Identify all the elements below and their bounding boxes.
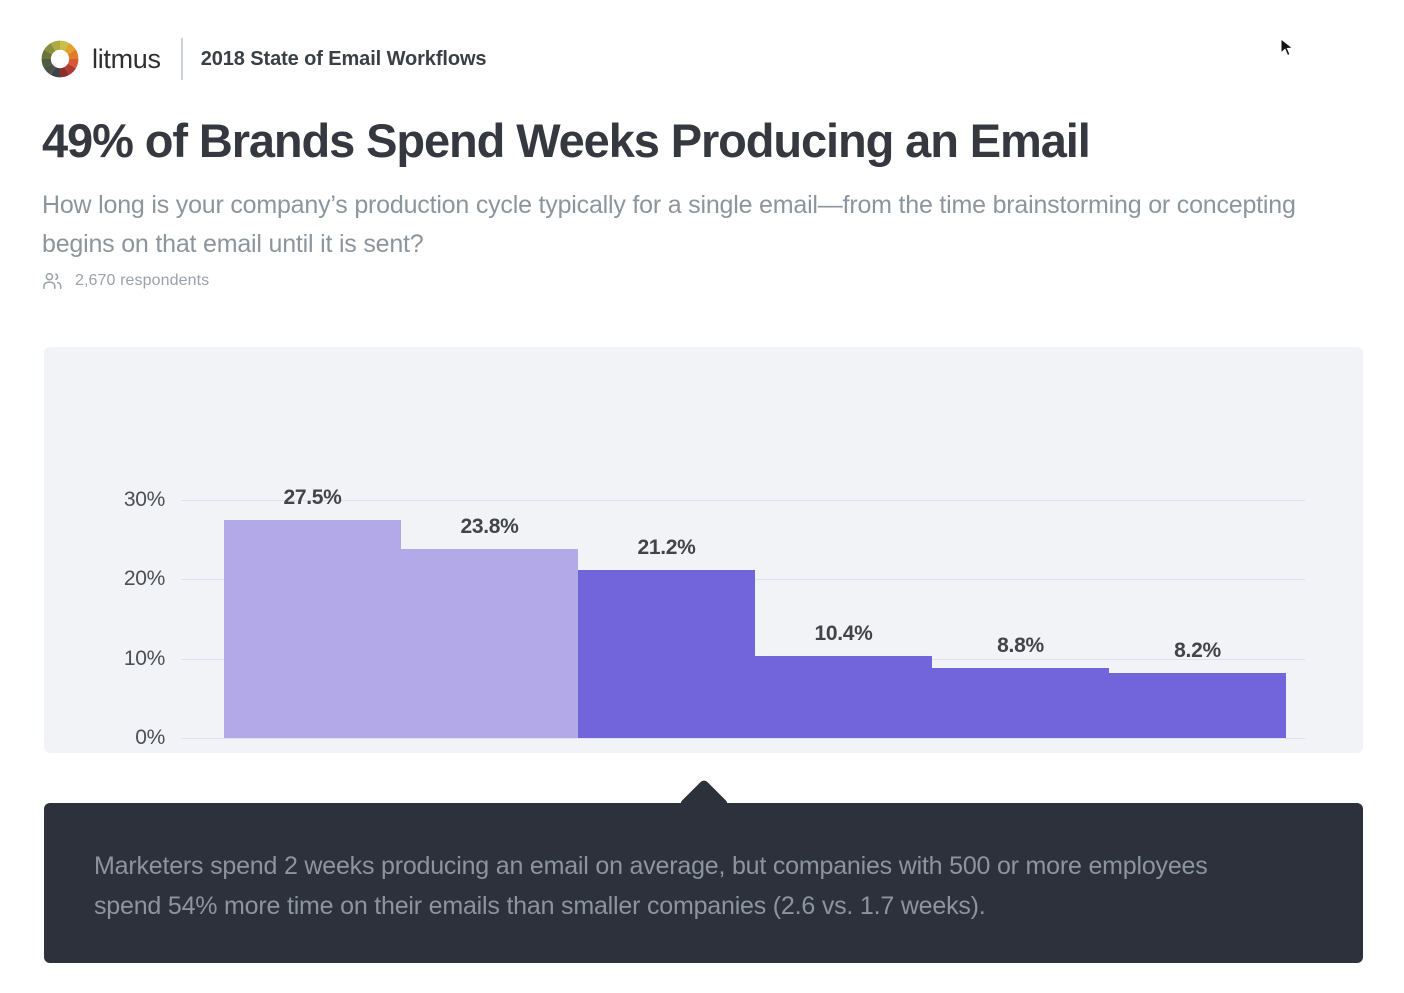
gridline: [181, 738, 1305, 739]
question-subtitle: How long is your company’s production cy…: [42, 186, 1322, 264]
callout-text: Marketers spend 2 weeks producing an ema…: [94, 847, 1274, 926]
bar-value-label: 27.5%: [224, 486, 401, 510]
y-axis-tick-label: 30%: [124, 488, 165, 512]
bar[interactable]: [224, 520, 401, 738]
mouse-cursor-icon: [1278, 37, 1296, 59]
bar[interactable]: [1109, 673, 1286, 738]
y-axis-tick-label: 20%: [124, 567, 165, 591]
bar[interactable]: [578, 570, 755, 738]
bar-series: 27.5%23.8%21.2%10.4%8.8%8.2%: [224, 423, 1286, 738]
page-title: 49% of Brands Spend Weeks Producing an E…: [42, 115, 1090, 167]
bar-value-label: 8.2%: [1109, 639, 1286, 663]
bar[interactable]: [401, 549, 578, 738]
bar-value-label: 10.4%: [755, 622, 932, 646]
callout-box: Marketers spend 2 weeks producing an ema…: [44, 803, 1363, 963]
bar-item[interactable]: 10.4%: [755, 423, 932, 738]
y-axis-tick-label: 10%: [124, 647, 165, 671]
infographic-page: litmus 2018 State of Email Workflows 49%…: [0, 0, 1404, 993]
respondents-count: 2,670 respondents: [75, 272, 209, 290]
header-divider: [181, 38, 183, 80]
bar-item[interactable]: 8.8%: [932, 423, 1109, 738]
bar-value-label: 23.8%: [401, 515, 578, 539]
bar[interactable]: [755, 656, 932, 739]
bar-item[interactable]: 23.8%: [401, 423, 578, 738]
report-title: 2018 State of Email Workflows: [201, 48, 487, 71]
people-icon: [42, 272, 64, 290]
bar-item[interactable]: 27.5%: [224, 423, 401, 738]
bar-item[interactable]: 8.2%: [1109, 423, 1286, 738]
respondents-row: 2,670 respondents: [42, 272, 209, 290]
litmus-color-wheel-icon: [40, 39, 80, 79]
bar[interactable]: [932, 668, 1109, 738]
bar-value-label: 8.8%: [932, 634, 1109, 658]
y-axis-tick-label: 0%: [135, 726, 165, 750]
bar-chart: 0%10%20%30% 27.5%23.8%21.2%10.4%8.8%8.2%: [181, 423, 1305, 738]
brand-bar: litmus 2018 State of Email Workflows: [40, 33, 486, 85]
bar-value-label: 21.2%: [578, 536, 755, 560]
brand-name: litmus: [92, 46, 161, 73]
chart-card: 0%10%20%30% 27.5%23.8%21.2%10.4%8.8%8.2%…: [44, 347, 1363, 753]
bar-item[interactable]: 21.2%: [578, 423, 755, 738]
